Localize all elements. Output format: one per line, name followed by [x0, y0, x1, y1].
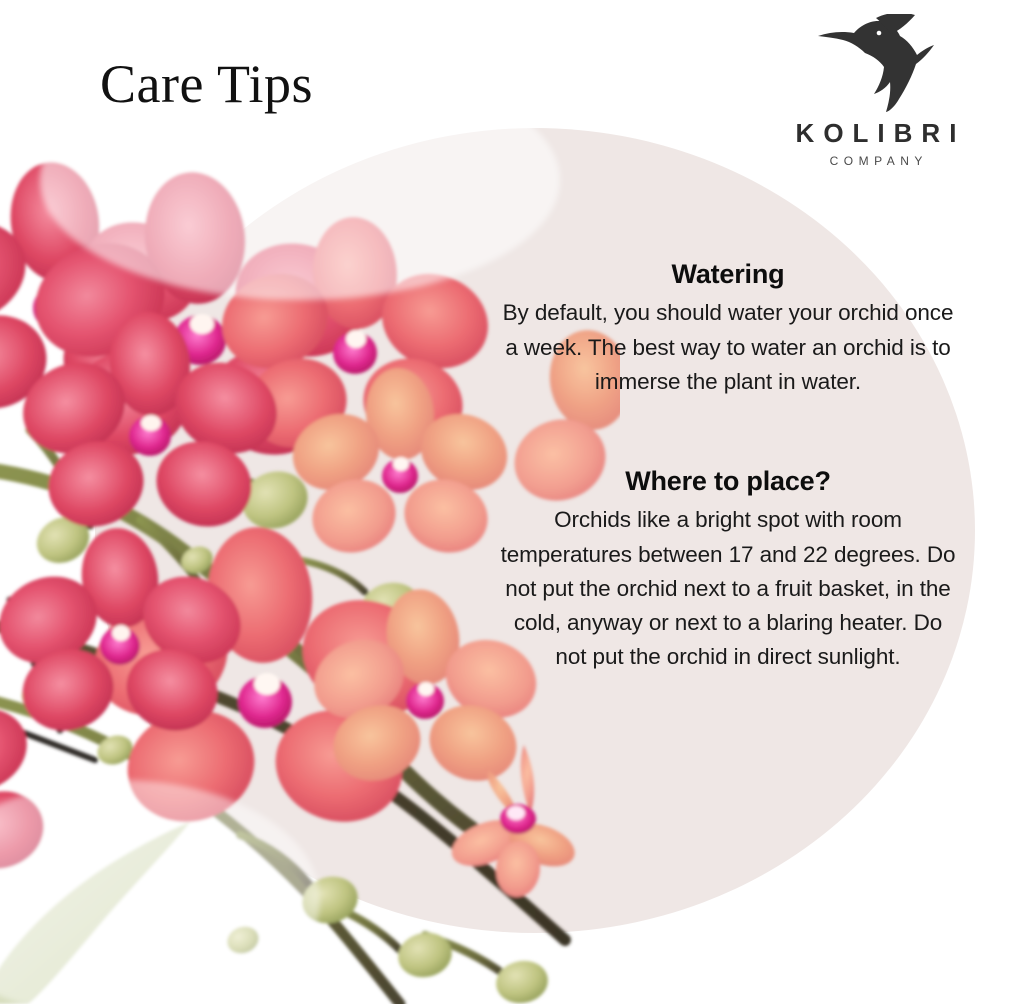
section-heading-watering: Watering: [498, 258, 958, 290]
brand-logo[interactable]: KOLIBRI COMPANY: [776, 14, 976, 167]
section-body-where-to-place: Orchids like a bright spot with room tem…: [498, 503, 958, 674]
section-where-to-place: Where to place? Orchids like a bright sp…: [498, 465, 958, 674]
brand-name: KOLIBRI: [787, 120, 966, 146]
brand-subtitle: COMPANY: [824, 155, 928, 167]
care-tips-poster: Care Tips KOLIBRI COMPANY Watering By de…: [0, 0, 1024, 1004]
page-title: Care Tips: [100, 55, 313, 114]
care-tips-content: Watering By default, you should water yo…: [498, 258, 958, 674]
section-body-watering: By default, you should water your orchid…: [498, 296, 958, 399]
section-watering: Watering By default, you should water yo…: [498, 258, 958, 399]
hummingbird-icon: [816, 14, 936, 112]
section-heading-where-to-place: Where to place?: [498, 465, 958, 497]
